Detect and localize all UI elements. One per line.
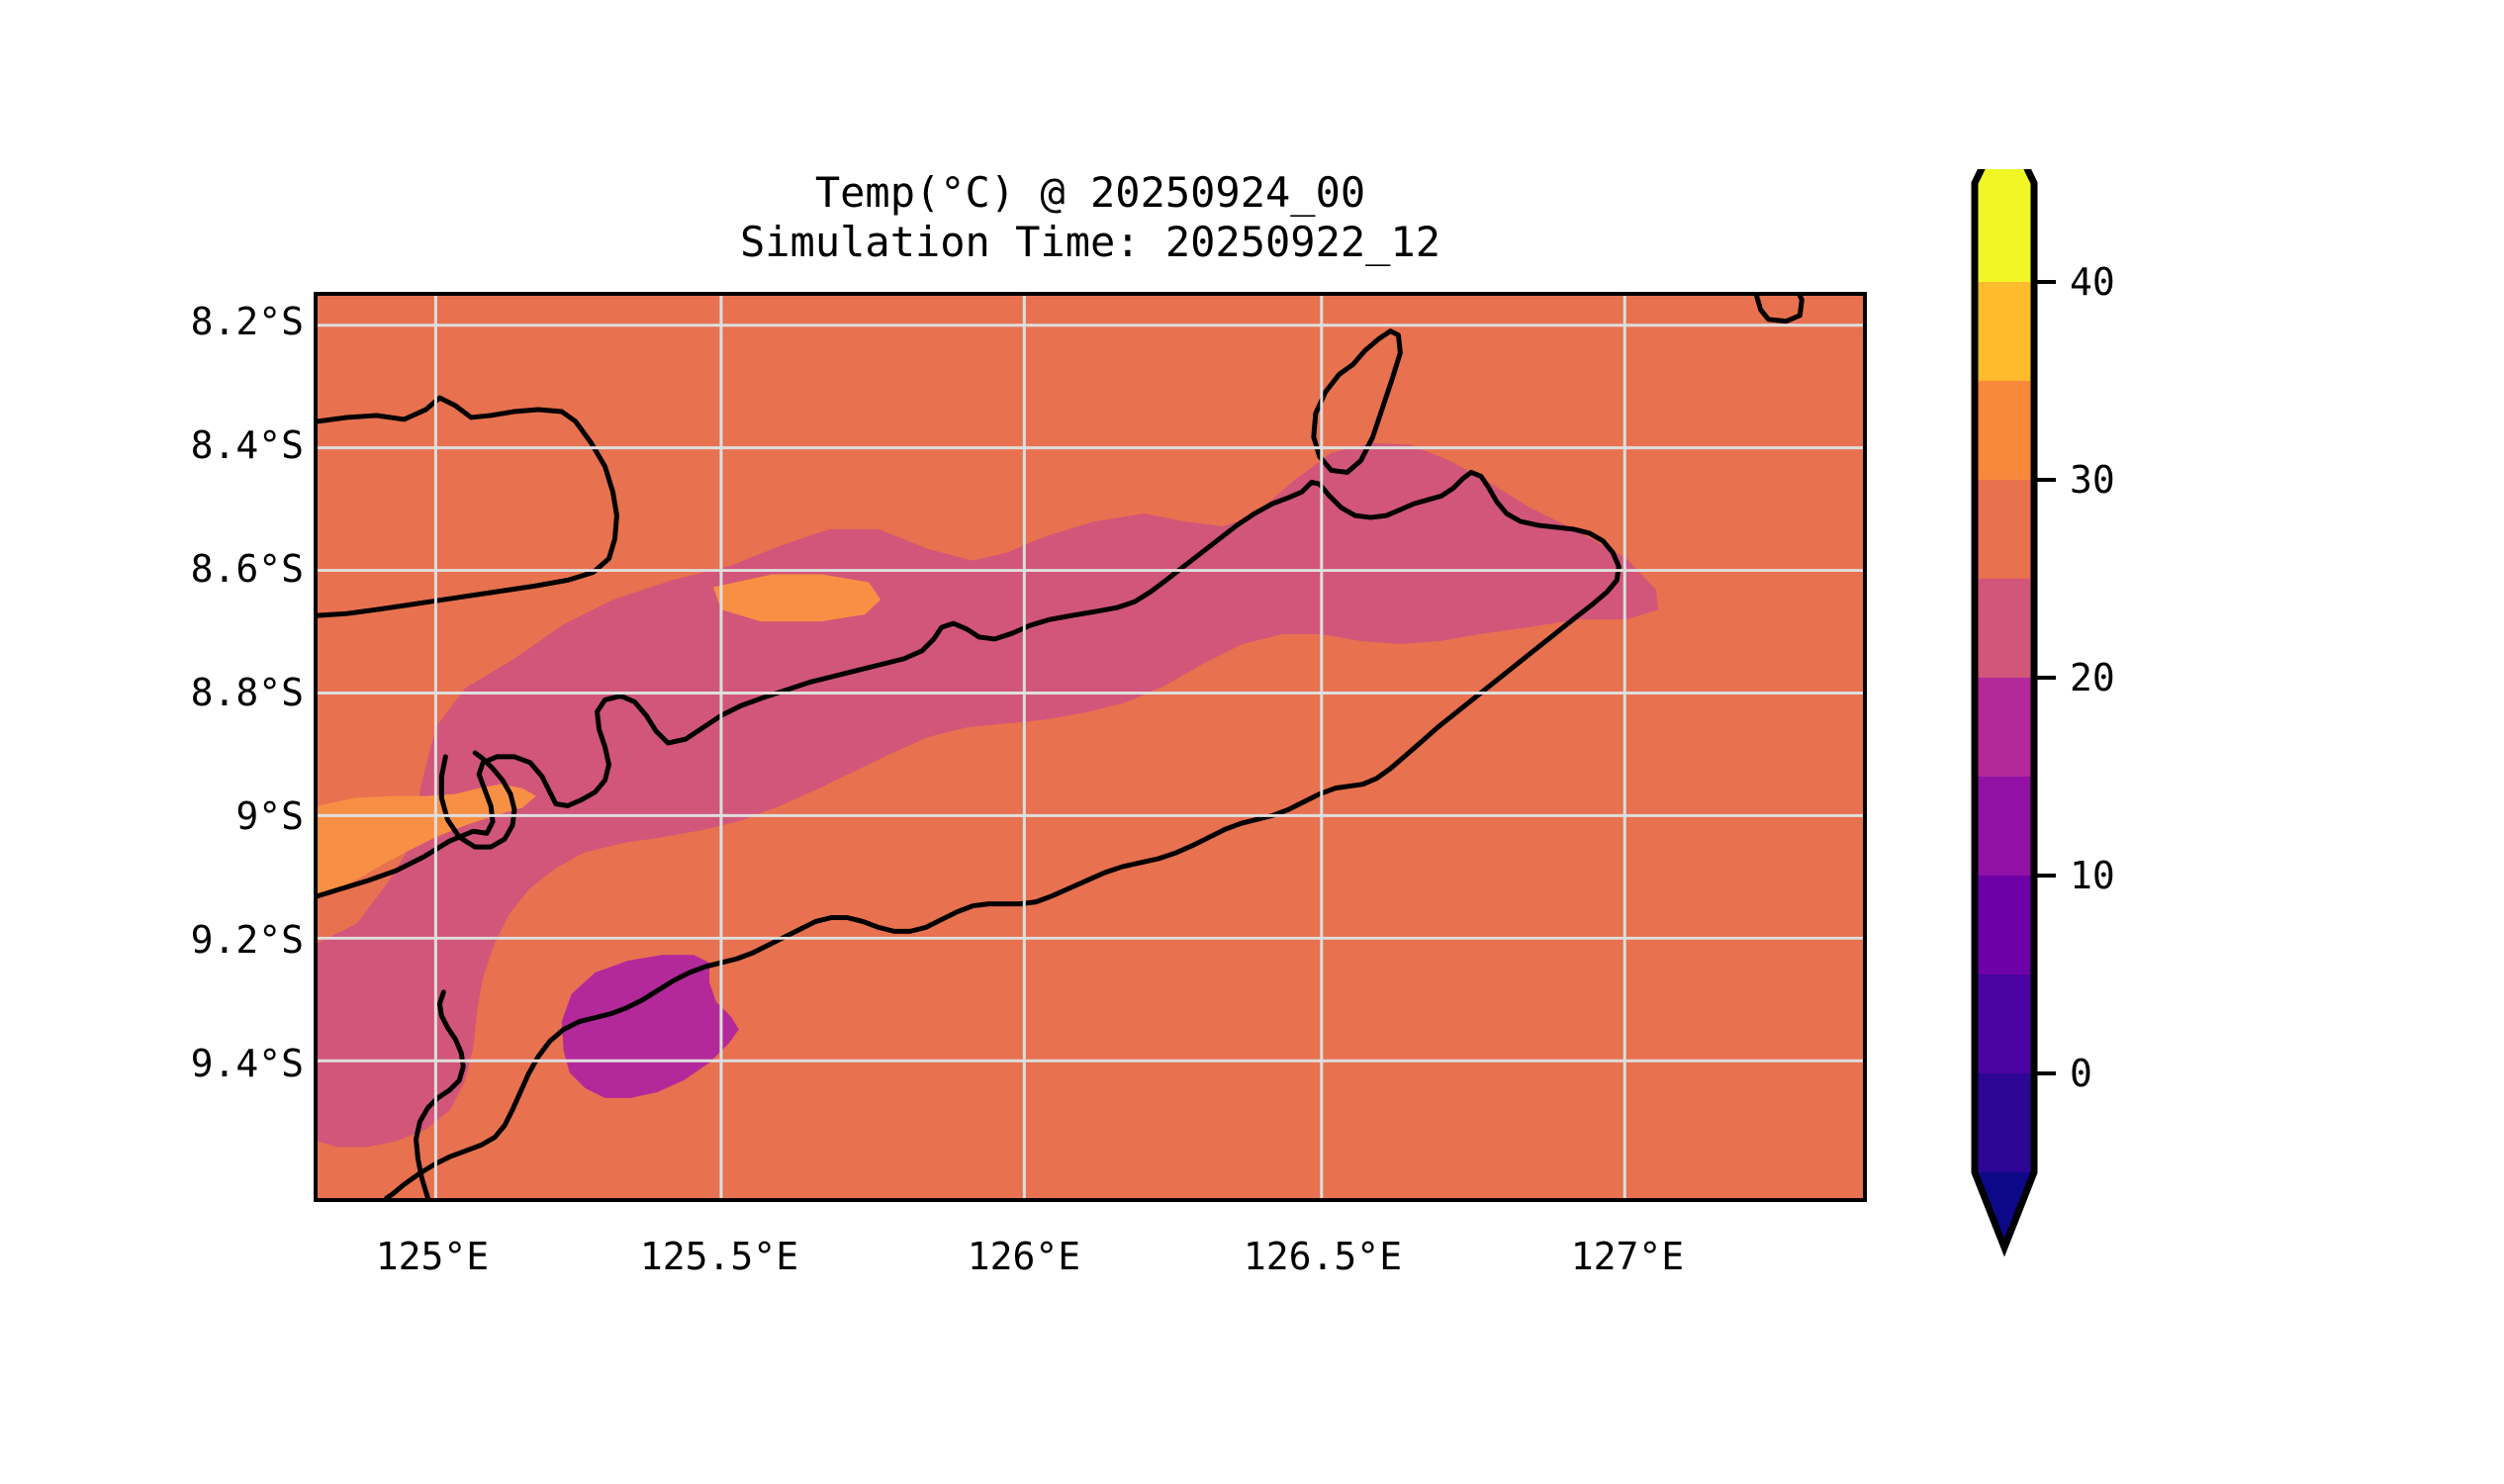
map-plot-area — [318, 296, 1863, 1198]
colorbar-border — [1975, 169, 2034, 1248]
ytick-label-8.6S: 8.6°S — [56, 547, 304, 591]
map-axes[interactable] — [314, 292, 1867, 1202]
figure-canvas: Temp(°C) @ 20250924_00 Simulation Time: … — [0, 0, 2504, 1484]
ytick-label-8.8S: 8.8°S — [56, 671, 304, 714]
temperature-contour-map — [318, 296, 1863, 1198]
xtick-label-126.5E: 126.5°E — [1174, 1235, 1471, 1278]
colorbar[interactable]: 40 30 20 10 0 — [1975, 173, 2034, 1331]
colorbar-ticklabel-20: 20 — [2070, 656, 2115, 699]
colorbar-tickmark-10 — [2034, 874, 2056, 878]
colorbar-ticklabel-40: 40 — [2070, 260, 2115, 304]
ytick-label-8.2S: 8.2°S — [56, 300, 304, 343]
xtick-label-125.5E: 125.5°E — [571, 1235, 868, 1278]
xtick-label-127E: 127°E — [1479, 1235, 1776, 1278]
xtick-label-125E: 125°E — [284, 1235, 581, 1278]
ytick-label-9.4S: 9.4°S — [56, 1042, 304, 1085]
colorbar-tickmark-40 — [2034, 280, 2056, 284]
colorbar-extend-under-arrow — [1975, 1172, 2034, 1248]
chart-title: Temp(°C) @ 20250924_00 Simulation Time: … — [314, 168, 1867, 266]
colorbar-ticklabel-10: 10 — [2070, 854, 2115, 897]
title-line-2: Simulation Time: 20250922_12 — [314, 218, 1867, 267]
colorbar-ticklabel-30: 30 — [2070, 458, 2115, 502]
xtick-label-126E: 126°E — [876, 1235, 1172, 1278]
colorbar-tickmark-20 — [2034, 676, 2056, 680]
ytick-label-8.4S: 8.4°S — [56, 423, 304, 467]
colorbar-tickmark-0 — [2034, 1071, 2056, 1075]
colorbar-ticklabel-0: 0 — [2070, 1052, 2092, 1095]
colorbar-outline — [1971, 169, 2038, 1335]
title-line-1: Temp(°C) @ 20250924_00 — [314, 168, 1867, 218]
ytick-label-9.2S: 9.2°S — [56, 918, 304, 962]
colorbar-tickmark-30 — [2034, 478, 2056, 482]
ytick-label-9S: 9°S — [56, 794, 304, 838]
